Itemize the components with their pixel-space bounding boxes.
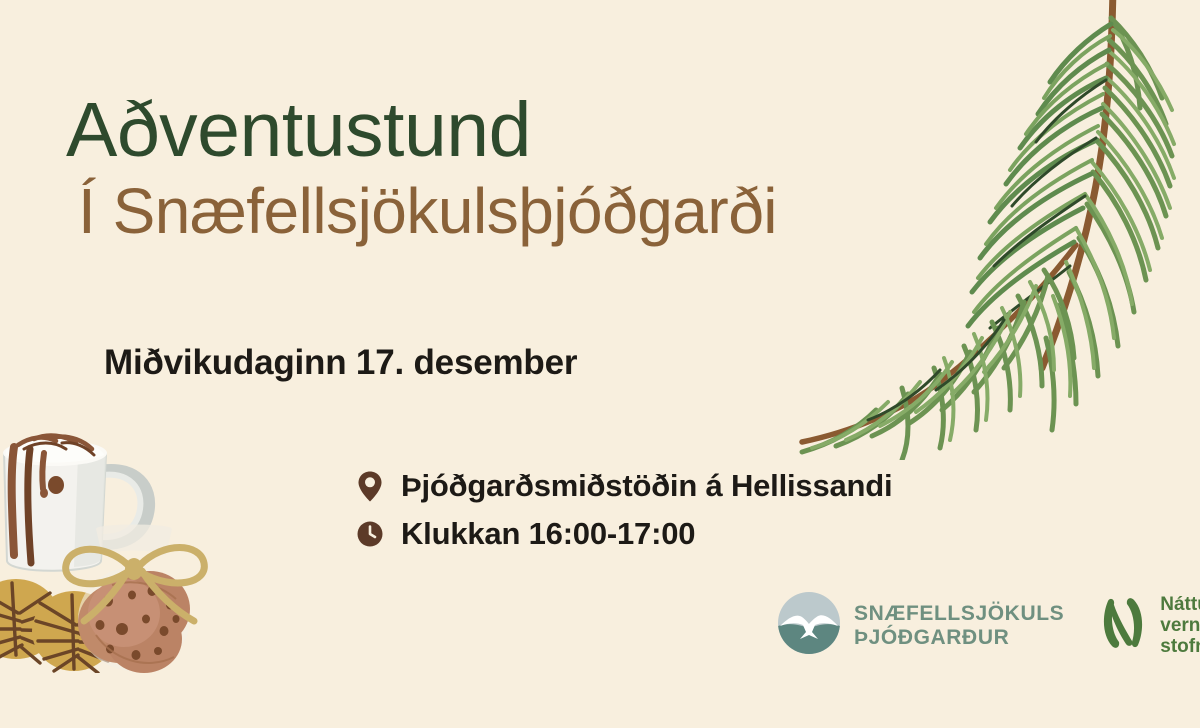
location-text: Þjóðgarðsmiðstöðin á Hellissandi	[401, 468, 892, 504]
time-text: Klukkan 16:00-17:00	[401, 516, 695, 552]
logo-line-2: ÞJÓÐGARÐUR	[854, 626, 1009, 649]
event-poster: Aðventustund Í Snæfellsjökulsþjóðgarði M…	[0, 0, 1200, 728]
cocoa-mug-icon	[3, 436, 149, 571]
map-pin-icon	[357, 470, 383, 502]
logo-line-3: stofnun	[1160, 636, 1200, 657]
cookie-bag-icon	[66, 525, 205, 674]
pine-cones-icon	[0, 579, 116, 673]
natturuverndarstofnun-logo-text: Náttúru verndar stofnun	[1160, 594, 1200, 658]
cocoa-cookies-pinecones-illustration	[0, 423, 260, 673]
pine-branch-illustration	[780, 0, 1200, 460]
snaefellsjokull-logo-text: SNÆFELLSJÖKULS ÞJÓÐGARÐUR	[854, 602, 1064, 649]
event-details: Þjóðgarðsmiðstöðin á Hellissandi Klukkan…	[357, 468, 892, 564]
detail-row-location: Þjóðgarðsmiðstöðin á Hellissandi	[357, 468, 892, 504]
snaefellsjokull-logo: SNÆFELLSJÖKULS ÞJÓÐGARÐUR	[778, 592, 1064, 659]
detail-row-time: Klukkan 16:00-17:00	[357, 516, 892, 552]
logo-line-2: verndar	[1160, 615, 1200, 636]
logo-row: SNÆFELLSJÖKULS ÞJÓÐGARÐUR Náttúru vernda…	[778, 592, 1200, 659]
logo-line-1: Náttúru	[1160, 594, 1200, 615]
page-subtitle: Í Snæfellsjökulsþjóðgarði	[78, 179, 777, 243]
natturuverndarstofnun-logo: Náttúru verndar stofnun	[1100, 594, 1200, 658]
page-title: Aðventustund	[66, 92, 777, 169]
event-date: Miðvikudaginn 17. desember	[104, 343, 577, 383]
mountain-circle-icon	[778, 592, 840, 659]
headline-block: Aðventustund Í Snæfellsjökulsþjóðgarði	[66, 92, 777, 243]
leaf-n-icon	[1100, 595, 1146, 656]
clock-icon	[357, 518, 383, 550]
logo-line-1: SNÆFELLSJÖKULS	[854, 602, 1064, 625]
